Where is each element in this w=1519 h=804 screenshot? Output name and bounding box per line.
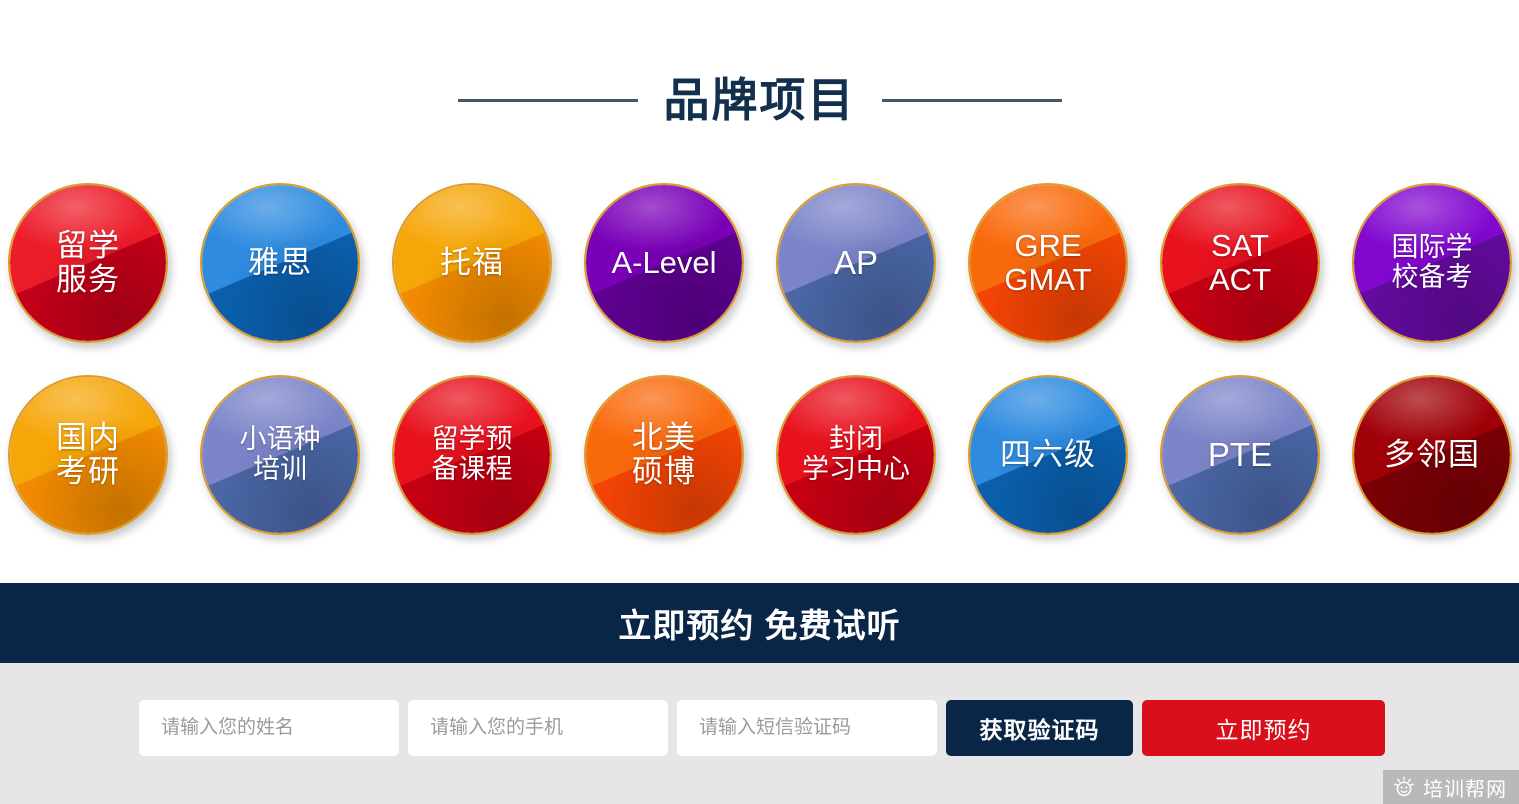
program-row-1: 留学 服务雅思托福A-LevelAPGRE GMATSAT ACT国际学 校备考 xyxy=(8,183,1512,343)
program-circle-label: GRE GMAT xyxy=(998,229,1097,297)
program-circle-label: 托福 xyxy=(434,246,510,280)
program-circle-label: 留学 服务 xyxy=(50,229,126,297)
cta-banner: 立即预约 免费试听 xyxy=(0,583,1519,663)
name-input[interactable] xyxy=(139,700,399,756)
program-circle-label: AP xyxy=(828,245,884,281)
program-circle-label: SAT ACT xyxy=(1203,229,1277,297)
program-circle-label: 留学预 备课程 xyxy=(426,425,519,484)
program-circle-label: 国内 考研 xyxy=(50,421,126,489)
phone-input[interactable] xyxy=(408,700,668,756)
program-circle[interactable]: 四六级 xyxy=(968,375,1128,535)
program-circle[interactable]: 封闭 学习中心 xyxy=(776,375,936,535)
section-header: 品牌项目 xyxy=(0,62,1519,138)
program-circle[interactable]: GRE GMAT xyxy=(968,183,1128,343)
sun-face-icon xyxy=(1393,776,1415,798)
program-circle[interactable]: A-Level xyxy=(584,183,744,343)
program-circle[interactable]: 雅思 xyxy=(200,183,360,343)
get-verification-code-button[interactable]: 获取验证码 xyxy=(946,700,1133,756)
program-circle[interactable]: 国际学 校备考 xyxy=(1352,183,1512,343)
title-rule-left xyxy=(458,99,638,102)
program-circle[interactable]: AP xyxy=(776,183,936,343)
program-circle-label: 北美 硕博 xyxy=(626,421,702,489)
program-circle-label: 四六级 xyxy=(994,438,1102,472)
watermark-text: 培训帮网 xyxy=(1423,773,1507,802)
program-circle[interactable]: 国内 考研 xyxy=(8,375,168,535)
program-circle[interactable]: 小语种 培训 xyxy=(200,375,360,535)
program-circle[interactable]: SAT ACT xyxy=(1160,183,1320,343)
program-circle[interactable]: 托福 xyxy=(392,183,552,343)
program-circle[interactable]: 留学预 备课程 xyxy=(392,375,552,535)
program-circle-label: 封闭 学习中心 xyxy=(796,425,916,484)
cta-banner-text: 立即预约 免费试听 xyxy=(618,599,900,647)
sms-code-input[interactable] xyxy=(677,700,937,756)
title-rule-right xyxy=(882,99,1062,102)
form-fields-row: 获取验证码 立即预约 xyxy=(139,700,1385,756)
program-circle-grid: 留学 服务雅思托福A-LevelAPGRE GMATSAT ACT国际学 校备考… xyxy=(8,183,1512,535)
program-circle[interactable]: 北美 硕博 xyxy=(584,375,744,535)
program-circle[interactable]: 多邻国 xyxy=(1352,375,1512,535)
program-circle-label: A-Level xyxy=(605,246,722,280)
submit-reservation-button[interactable]: 立即预约 xyxy=(1142,700,1385,756)
program-circle-label: 雅思 xyxy=(242,246,318,280)
program-circle-label: 国际学 校备考 xyxy=(1386,233,1479,292)
site-watermark: 培训帮网 xyxy=(1383,770,1519,804)
reservation-form: 获取验证码 立即预约 xyxy=(0,663,1519,804)
program-circle[interactable]: 留学 服务 xyxy=(8,183,168,343)
program-circle[interactable]: PTE xyxy=(1160,375,1320,535)
program-circle-label: PTE xyxy=(1202,437,1278,473)
program-row-2: 国内 考研小语种 培训留学预 备课程北美 硕博封闭 学习中心四六级PTE多邻国 xyxy=(8,375,1512,535)
program-circle-label: 小语种 培训 xyxy=(234,425,327,484)
program-circle-label: 多邻国 xyxy=(1378,438,1486,472)
page-title: 品牌项目 xyxy=(664,77,856,123)
